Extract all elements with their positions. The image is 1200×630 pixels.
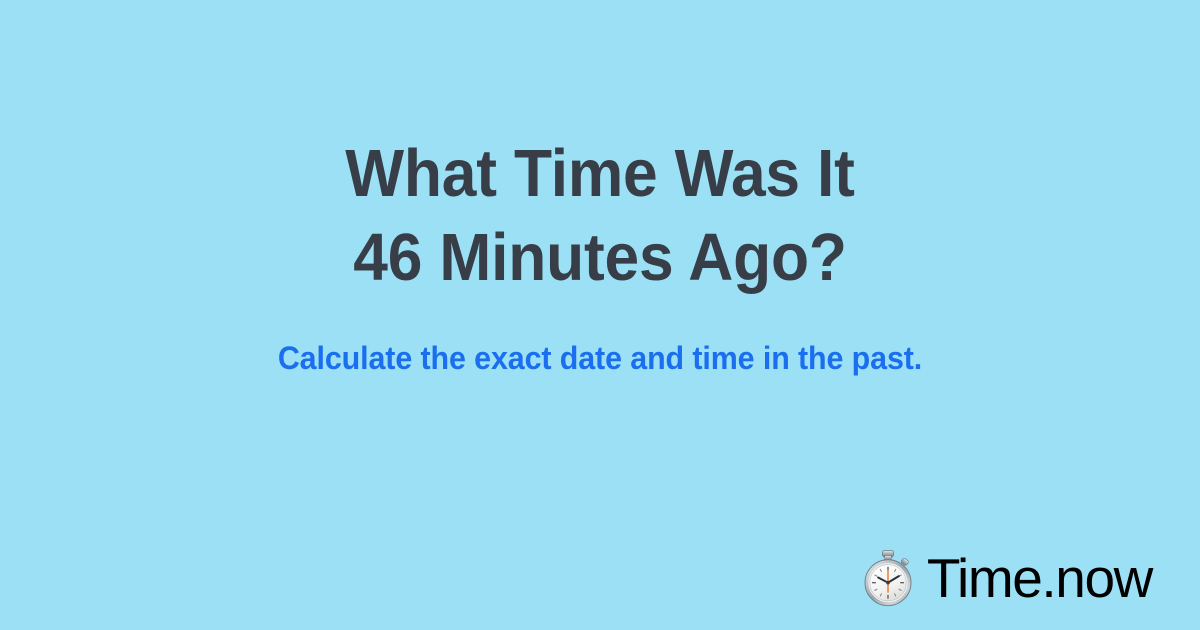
og-card: What Time Was It 46 Minutes Ago? Calcula… (0, 0, 1200, 630)
hero-section: What Time Was It 46 Minutes Ago? Calcula… (0, 132, 1200, 300)
headline-line-1: What Time Was It (42, 132, 1158, 216)
stopwatch-icon (858, 548, 918, 608)
headline-line-2: 46 Minutes Ago? (42, 216, 1158, 300)
brand-lockup[interactable]: Time.now (858, 548, 1152, 608)
page-subtitle: Calculate the exact date and time in the… (30, 338, 1170, 378)
brand-name: Time.now (927, 548, 1152, 608)
page-title: What Time Was It 46 Minutes Ago? (42, 132, 1158, 300)
